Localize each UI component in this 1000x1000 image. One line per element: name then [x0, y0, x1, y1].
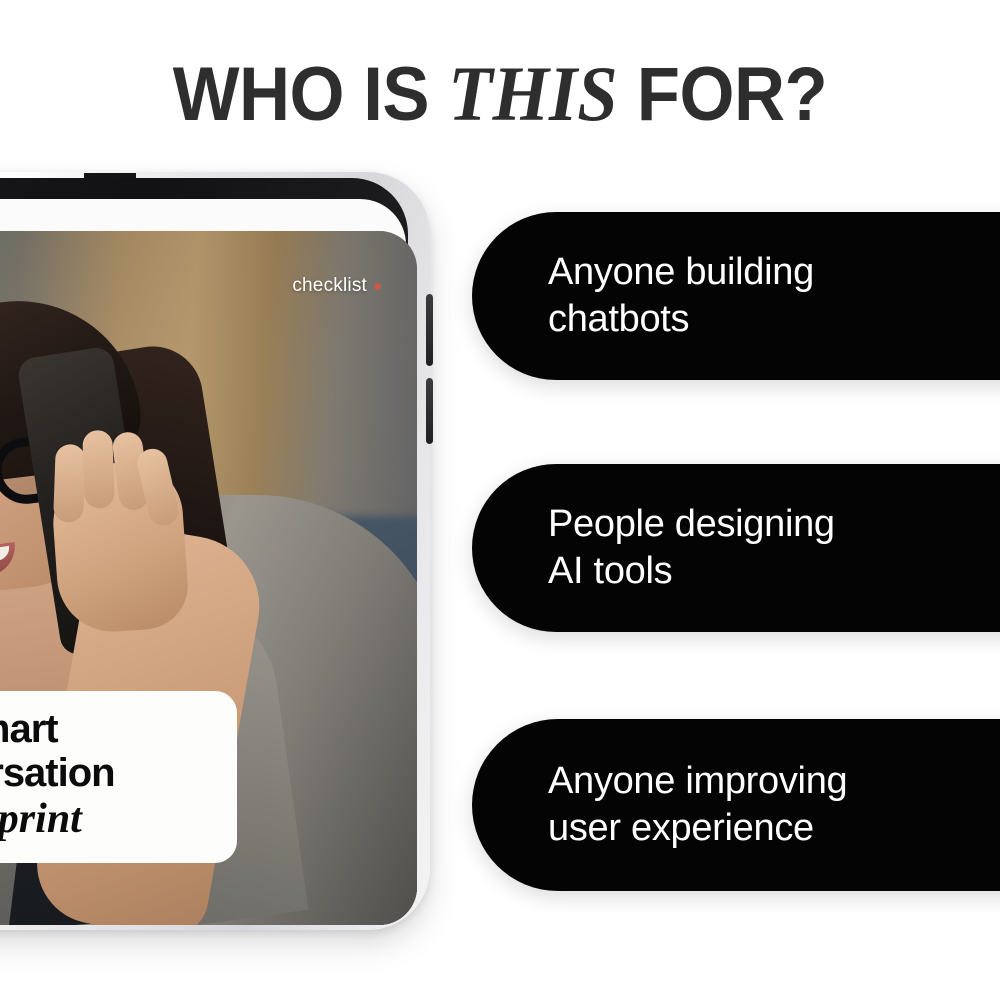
headline-part-2: FOR? [618, 52, 828, 137]
audience-pill-3-label: Anyone improving user experience [472, 758, 867, 852]
phone-mockup: checklist The Smart Conversation Bluepri… [0, 172, 430, 934]
photo-finger [82, 430, 115, 509]
audience-pill-1[interactable]: Anyone building chatbots [472, 212, 1000, 380]
audience-pill-3[interactable]: Anyone improving user experience [472, 719, 1000, 891]
checklist-watermark: checklist [292, 275, 381, 297]
volume-rocker-button[interactable] [426, 294, 433, 366]
headline-part-1: WHO IS [173, 52, 449, 137]
audience-pill-2[interactable]: People designing AI tools [472, 464, 1000, 632]
ebook-title-card: The Smart Conversation Blueprint [0, 691, 237, 863]
photo-finger [53, 444, 86, 523]
headline-emphasis: THIS [448, 50, 617, 137]
ebook-title-line-1: The Smart [0, 707, 217, 751]
checklist-watermark-text: checklist [292, 275, 367, 297]
ebook-title-line-2: Conversation [0, 751, 217, 795]
audience-pill-2-label: People designing AI tools [472, 501, 855, 595]
phone-screen[interactable]: checklist The Smart Conversation Bluepri… [0, 231, 417, 925]
page-title: WHO IS THIS FOR? [35, 52, 965, 137]
phone-frame: checklist The Smart Conversation Bluepri… [0, 172, 430, 930]
ebook-title-line-3: Blueprint [0, 795, 217, 843]
phone-bezel: checklist The Smart Conversation Bluepri… [0, 178, 408, 920]
phone-inner-ring: checklist The Smart Conversation Bluepri… [0, 199, 406, 915]
audience-pill-1-label: Anyone building chatbots [472, 249, 834, 343]
photo-hand [49, 459, 190, 636]
power-button[interactable] [426, 378, 433, 444]
checklist-dot-icon [374, 283, 381, 290]
